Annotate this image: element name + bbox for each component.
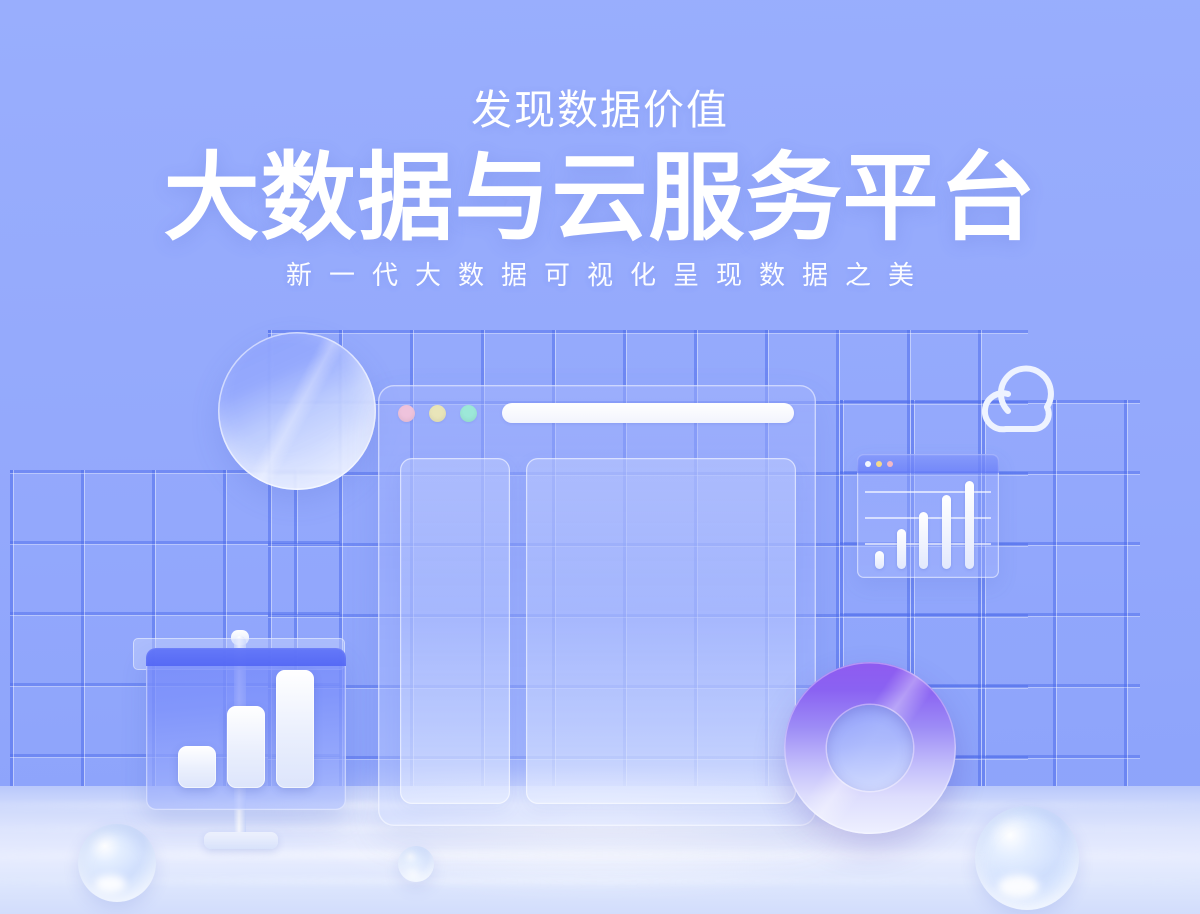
chart-bar xyxy=(919,512,928,569)
sidebar-panel xyxy=(400,458,510,804)
hero-banner: 发现数据价值 大数据与云服务平台 新一代大数据可视化呈现数据之美 xyxy=(0,0,1200,914)
mini-window-titlebar xyxy=(857,454,999,473)
dot-pink[interactable] xyxy=(887,461,893,467)
dot-white[interactable] xyxy=(865,461,871,467)
page-title: 大数据与云服务平台 xyxy=(0,149,1200,250)
glass-disc xyxy=(218,332,376,490)
minimize-dot[interactable] xyxy=(429,405,446,422)
mini-chart-plot xyxy=(857,473,999,578)
close-dot[interactable] xyxy=(398,405,415,422)
monitor-stand-base xyxy=(204,832,278,849)
browser-titlebar xyxy=(378,385,816,441)
subtitle-text: 新一代大数据可视化呈现数据之美 xyxy=(0,260,1200,291)
chart-bar xyxy=(942,495,951,569)
content-panel xyxy=(526,458,796,804)
glass-sphere-left xyxy=(78,824,156,902)
maximize-dot[interactable] xyxy=(460,405,477,422)
eyebrow-text: 发现数据价值 xyxy=(0,88,1200,133)
chart-bar xyxy=(897,529,906,569)
chart-bar xyxy=(965,481,974,569)
torus-ring xyxy=(784,662,956,834)
glass-sphere-right xyxy=(975,806,1079,910)
chart-bar xyxy=(875,551,884,569)
monitor-bar xyxy=(178,746,216,788)
dot-yellow[interactable] xyxy=(876,461,882,467)
hero-text-block: 发现数据价值 大数据与云服务平台 新一代大数据可视化呈现数据之美 xyxy=(0,88,1200,291)
monitor-bar xyxy=(276,670,314,788)
cloud-icon xyxy=(975,363,1067,435)
monitor-bar xyxy=(227,706,265,788)
address-bar[interactable] xyxy=(502,403,794,423)
torus-hole xyxy=(827,705,913,791)
monitor-header-bar xyxy=(146,648,346,666)
browser-window xyxy=(378,385,816,826)
glass-sphere-small xyxy=(398,846,434,882)
mini-chart-window xyxy=(857,454,999,578)
bar-chart-monitor xyxy=(146,648,346,810)
